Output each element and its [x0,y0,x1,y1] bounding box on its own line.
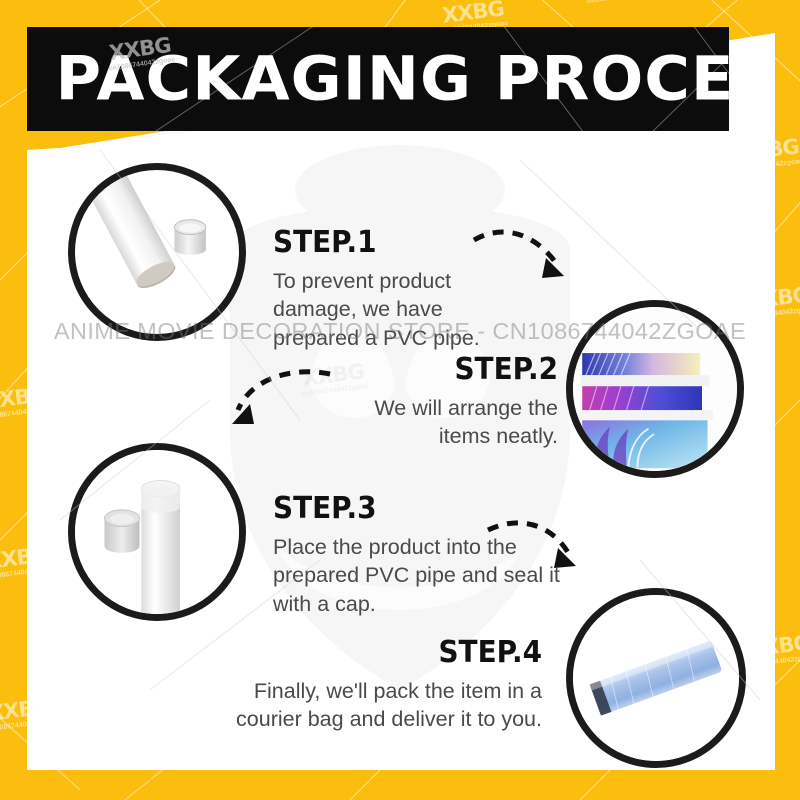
step-2-label: STEP.2 [349,355,558,385]
step-4-block: STEP.4 Finally, we'll pack the item in a… [212,638,542,734]
step-1-body: To prevent product damage, we have prepa… [273,267,523,352]
pvc-pipe-image [75,170,239,334]
step-4-label: STEP.4 [235,638,542,668]
step-2-body: We will arrange the items neatly. [333,394,558,451]
poster-title-bar: XXBG cn1086744042zgoae PACKAGING PROCESS [27,27,729,131]
step-2-block: STEP.2 We will arrange the items neatly. [333,355,558,451]
step-4-photo [566,588,746,768]
step-3-block: STEP.3 Place the product into the prepar… [273,494,563,618]
courier-bag-image [573,595,739,761]
step-1-block: STEP.1 To prevent product damage, we hav… [273,228,523,352]
folded-posters-image [573,307,737,471]
titlebar-hairlines [27,27,729,131]
step-4-body: Finally, we'll pack the item in a courie… [212,677,542,734]
step-3-label: STEP.3 [273,494,543,524]
capped-pipe-image [75,450,239,614]
step-2-photo [566,300,744,478]
step-1-photo [68,163,246,341]
step-3-photo [68,443,246,621]
step-3-body: Place the product into the prepared PVC … [273,533,563,618]
packaging-process-poster: XXBG cn1086744042zgoae PACKAGING PROCESS… [0,0,800,800]
step-1-label: STEP.1 [273,228,506,258]
